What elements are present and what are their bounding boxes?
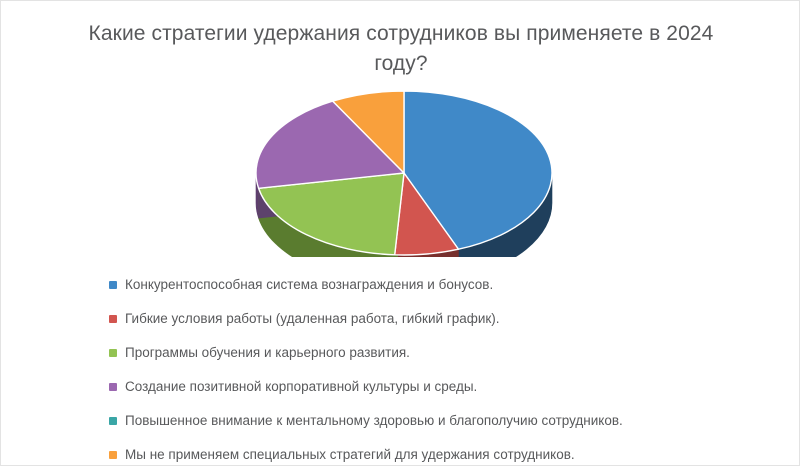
legend-item-label: Создание позитивной корпоративной культу… xyxy=(125,379,477,394)
legend-color-swatch-icon xyxy=(109,417,117,425)
legend-color-swatch-icon xyxy=(109,315,117,323)
legend-item[interactable]: Гибкие условия работы (удаленная работа,… xyxy=(109,303,729,334)
legend-color-swatch-icon xyxy=(109,281,117,289)
legend-item-label: Конкурентоспособная система вознагражден… xyxy=(125,277,493,292)
legend-item[interactable]: Программы обучения и карьерного развития… xyxy=(109,337,729,368)
legend-item-label: Повышенное внимание к ментальному здоров… xyxy=(125,413,623,428)
legend-color-swatch-icon xyxy=(109,349,117,357)
legend-item-label: Гибкие условия работы (удаленная работа,… xyxy=(125,311,500,326)
legend-color-swatch-icon xyxy=(109,451,117,459)
chart-legend: Конкурентоспособная система вознагражден… xyxy=(109,269,729,466)
legend-item[interactable]: Мы не применяем специальных стратегий дл… xyxy=(109,439,729,466)
legend-color-swatch-icon xyxy=(109,383,117,391)
pie-chart-3d xyxy=(249,87,553,257)
page-title: Какие стратегии удержания сотрудников вы… xyxy=(61,19,741,79)
slide-canvas: Какие стратегии удержания сотрудников вы… xyxy=(0,0,800,466)
legend-item-label: Программы обучения и карьерного развития… xyxy=(125,345,410,360)
legend-item[interactable]: Создание позитивной корпоративной культу… xyxy=(109,371,729,402)
legend-item[interactable]: Повышенное внимание к ментальному здоров… xyxy=(109,405,729,436)
legend-item-label: Мы не применяем специальных стратегий дл… xyxy=(125,447,575,462)
legend-item[interactable]: Конкурентоспособная система вознагражден… xyxy=(109,269,729,300)
pie-chart-svg xyxy=(249,87,553,257)
